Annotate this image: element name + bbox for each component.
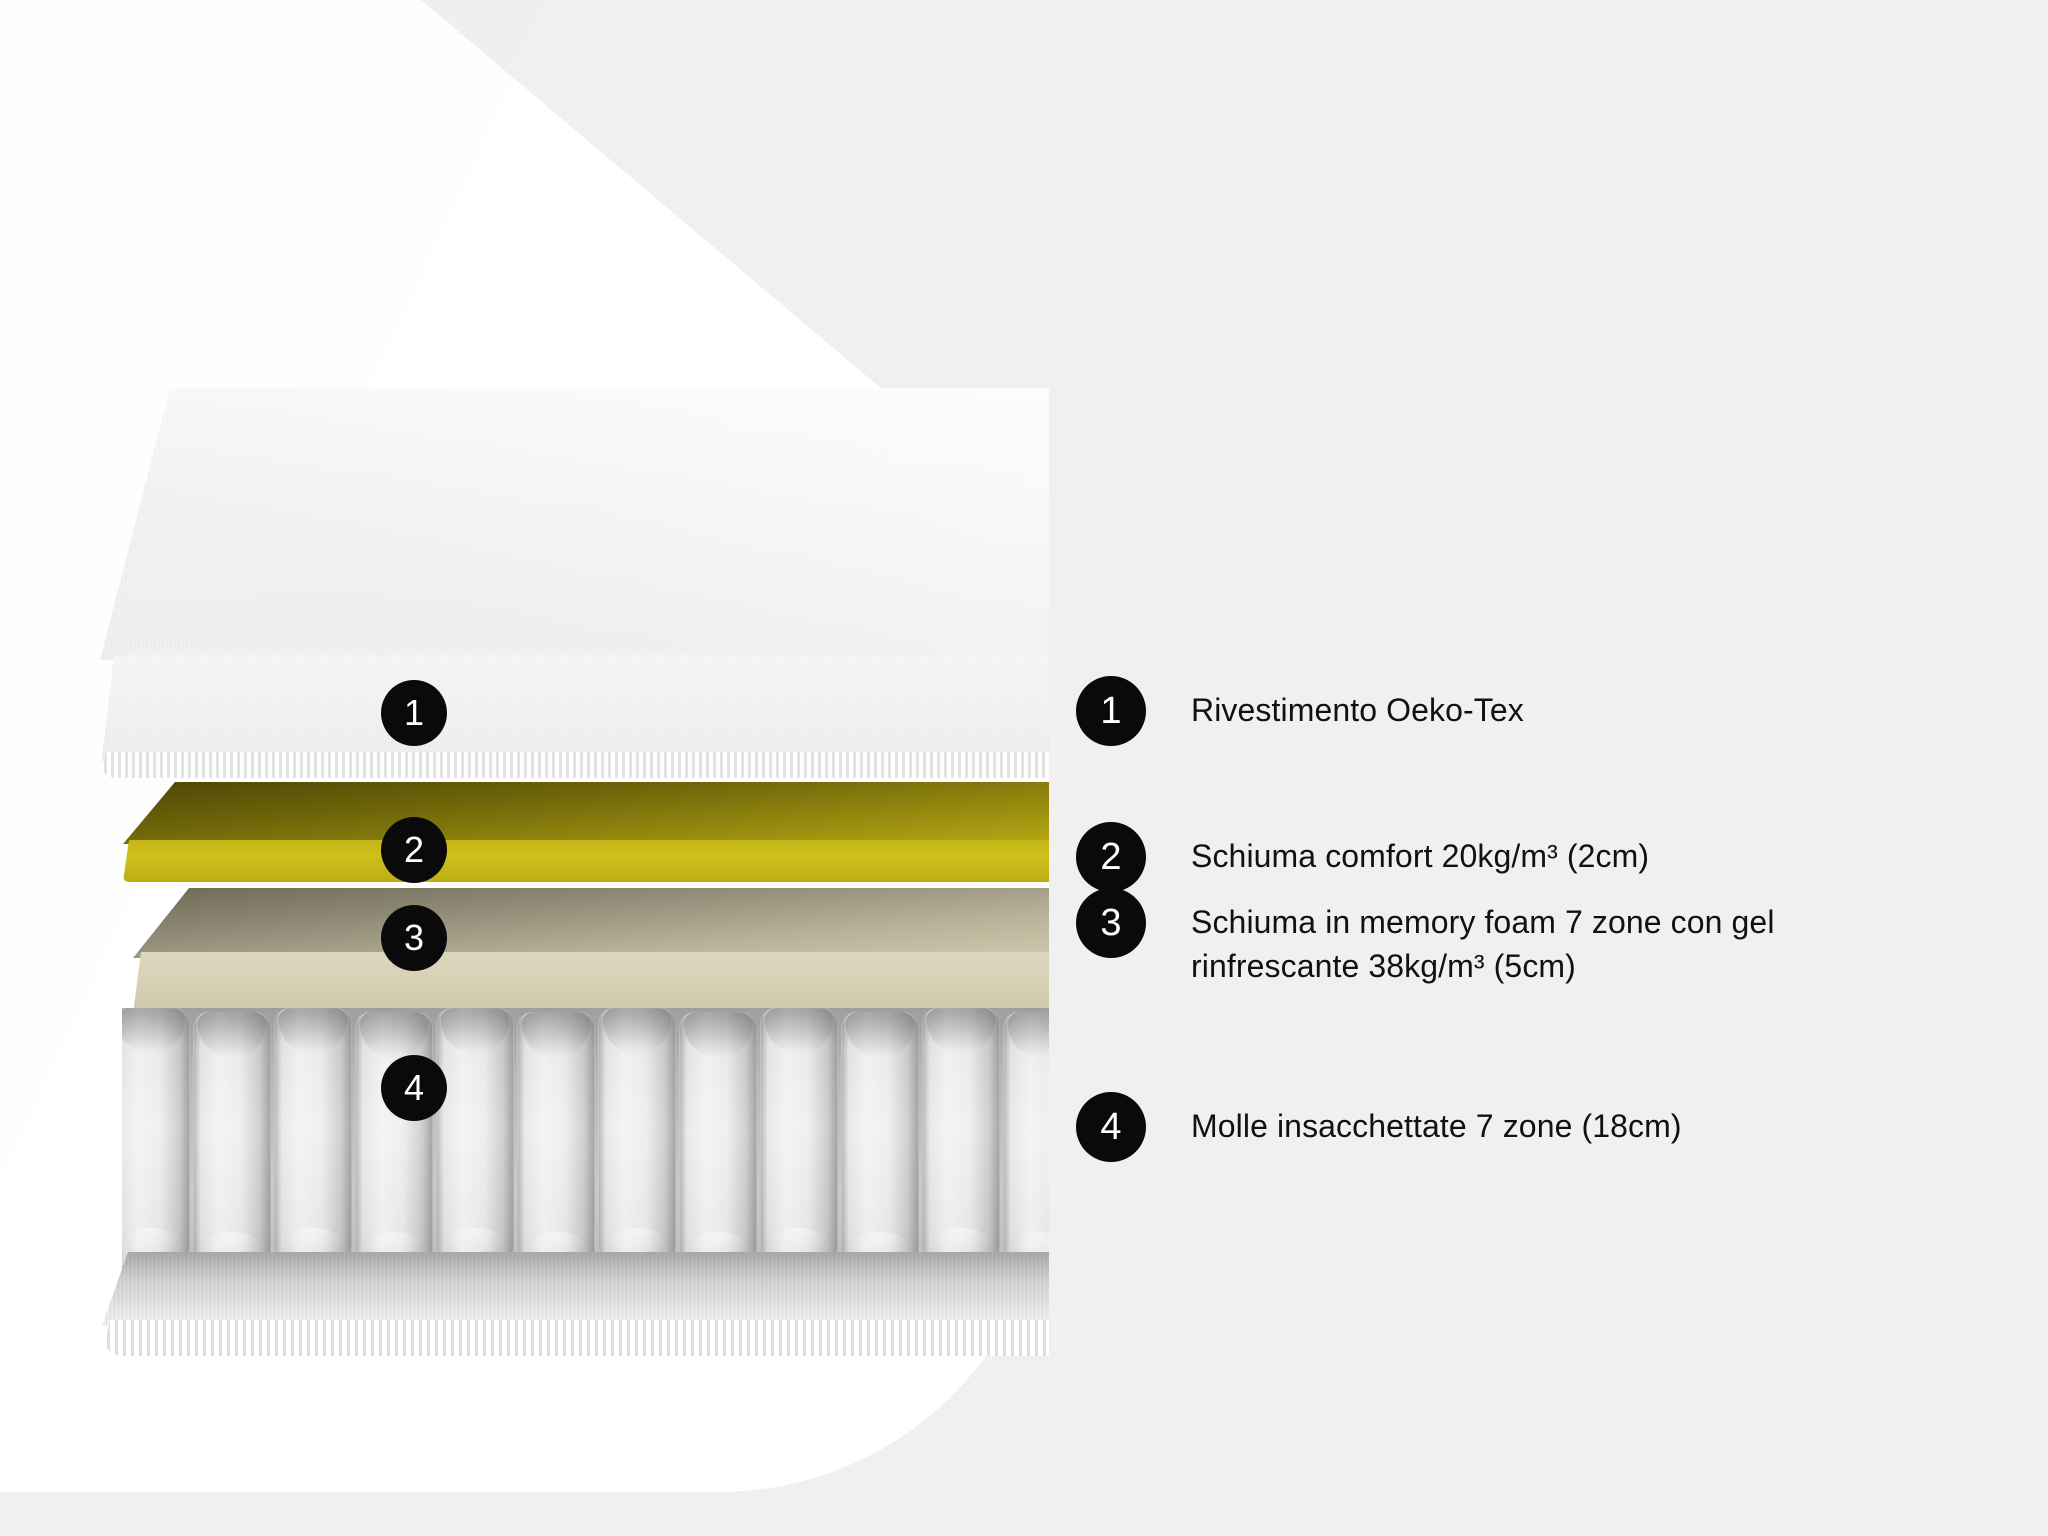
legend-label-4: Molle insacchettate 7 zone (18cm) (1191, 1092, 1682, 1148)
image-badge-4[interactable]: 4 (381, 1055, 447, 1121)
mattress-base-piping (102, 1320, 1064, 1356)
legend-item-4[interactable]: 4 Molle insacchettate 7 zone (18cm) (1076, 1092, 1682, 1162)
mattress-cutaway-illustration: 1 2 3 4 (0, 0, 1049, 1400)
mattress-layer-memory-foam-face (133, 952, 1064, 1014)
pocket-spring (122, 1008, 190, 1268)
pocket-spring (922, 1008, 1000, 1268)
pocket-spring (436, 1008, 514, 1268)
mattress-layer-cover-top (100, 388, 1064, 660)
mattress-layer-cover-piping (100, 752, 1064, 778)
legend-badge-2[interactable]: 2 (1076, 822, 1146, 892)
mattress-layer-comfort-foam-top (123, 782, 1064, 844)
legend-list: 1 Rivestimento Oeko-Tex 2 Schiuma comfor… (1076, 0, 1956, 1536)
pocket-spring (517, 1012, 595, 1268)
pocket-spring (1003, 1012, 1064, 1268)
pocket-spring (274, 1008, 352, 1268)
mattress-layer-comfort-foam-face (123, 840, 1064, 882)
mattress-layer-memory-foam-top (133, 888, 1064, 958)
legend-badge-1[interactable]: 1 (1076, 676, 1146, 746)
mattress-base-top (102, 1252, 1064, 1326)
image-badge-3[interactable]: 3 (381, 905, 447, 971)
mattress-layer-pocket-springs (122, 1008, 1064, 1268)
image-badge-2[interactable]: 2 (381, 817, 447, 883)
pocket-spring (355, 1012, 433, 1268)
pocket-spring (760, 1008, 838, 1268)
legend-item-1[interactable]: 1 Rivestimento Oeko-Tex (1076, 676, 1524, 746)
legend-label-1: Rivestimento Oeko-Tex (1191, 676, 1524, 732)
legend-label-3: Schiuma in memory foam 7 zone con gel ri… (1191, 888, 1931, 988)
legend-badge-3[interactable]: 3 (1076, 888, 1146, 958)
diagram-stage: 1 2 3 4 1 Rivestimento Oeko-Tex 2 Schium… (0, 0, 2048, 1536)
legend-item-3[interactable]: 3 Schiuma in memory foam 7 zone con gel … (1076, 888, 1931, 988)
legend-label-2: Schiuma comfort 20kg/m³ (2cm) (1191, 822, 1649, 878)
legend-badge-4[interactable]: 4 (1076, 1092, 1146, 1162)
pocket-spring (679, 1012, 757, 1268)
pocket-spring (841, 1012, 919, 1268)
image-badge-1[interactable]: 1 (381, 680, 447, 746)
legend-item-2[interactable]: 2 Schiuma comfort 20kg/m³ (2cm) (1076, 822, 1649, 892)
pocket-spring (598, 1008, 676, 1268)
pocket-spring (193, 1012, 271, 1268)
